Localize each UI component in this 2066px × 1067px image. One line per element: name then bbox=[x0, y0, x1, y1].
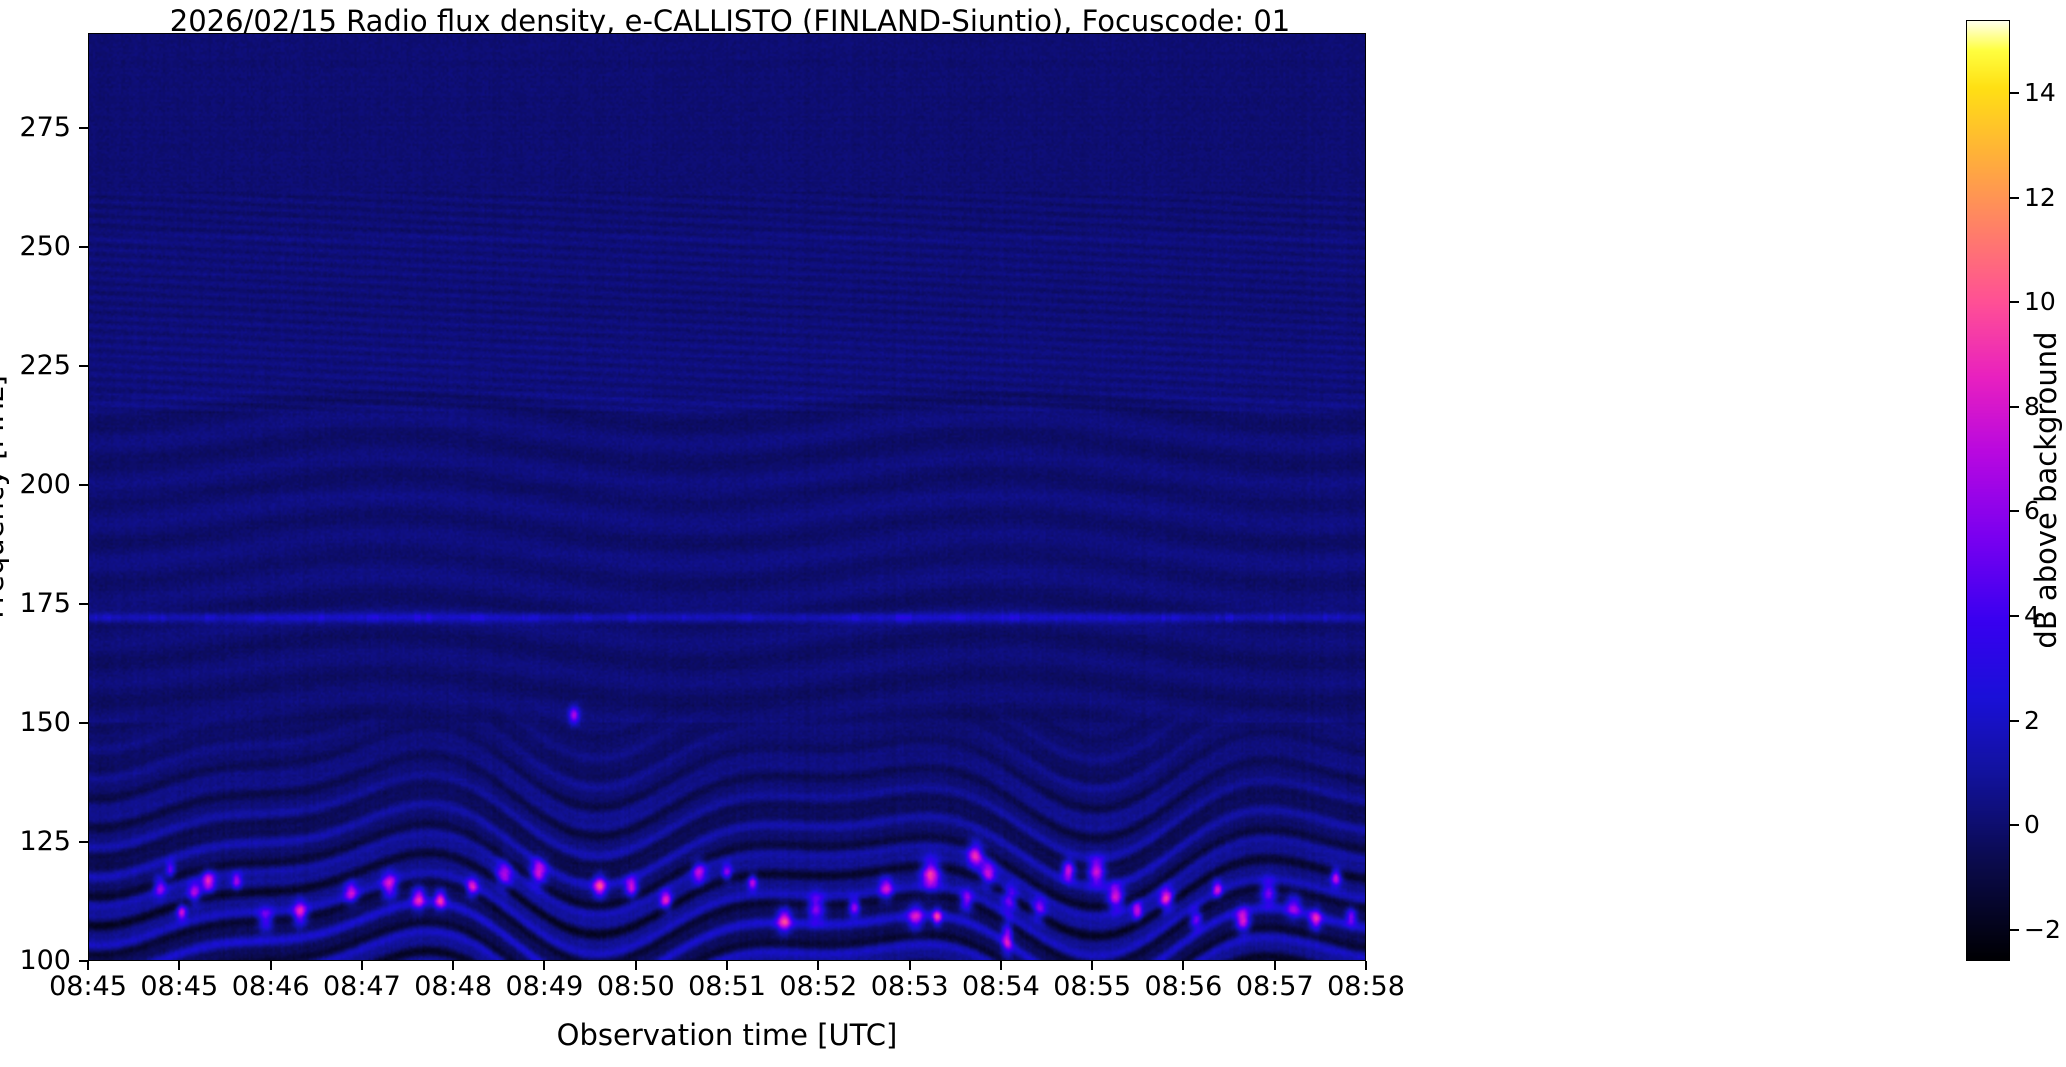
y-tick-mark bbox=[79, 484, 88, 486]
colorbar-tick-label: 2 bbox=[2024, 708, 2040, 733]
colorbar-image bbox=[1967, 21, 2009, 960]
colorbar-tick-mark bbox=[2010, 510, 2019, 512]
colorbar-tick-label: 14 bbox=[2024, 80, 2056, 105]
y-tick-label: 225 bbox=[0, 352, 71, 379]
x-tick-mark bbox=[1274, 961, 1276, 970]
y-tick-mark bbox=[79, 365, 88, 367]
y-tick-label: 100 bbox=[0, 947, 71, 974]
y-tick-label: 175 bbox=[0, 590, 71, 617]
x-tick-mark bbox=[1091, 961, 1093, 970]
colorbar-label: dB above background bbox=[2029, 331, 2063, 648]
y-tick-mark bbox=[79, 603, 88, 605]
x-tick-mark bbox=[543, 961, 545, 970]
y-tick-label: 200 bbox=[0, 471, 71, 498]
colorbar-tick-mark bbox=[2010, 720, 2019, 722]
y-tick-mark bbox=[79, 841, 88, 843]
x-tick-mark bbox=[726, 961, 728, 970]
y-tick-label: 125 bbox=[0, 828, 71, 855]
y-tick-mark bbox=[79, 246, 88, 248]
colorbar-tick-mark bbox=[2010, 929, 2019, 931]
x-tick-mark bbox=[87, 961, 89, 970]
x-tick-mark bbox=[817, 961, 819, 970]
colorbar-tick-label: 0 bbox=[2024, 812, 2040, 837]
x-tick-mark bbox=[1000, 961, 1002, 970]
spectrogram-image bbox=[89, 34, 1365, 960]
x-tick-mark bbox=[452, 961, 454, 970]
x-axis-label: Observation time [UTC] bbox=[557, 1018, 898, 1052]
x-tick-mark bbox=[909, 961, 911, 970]
colorbar-tick-mark bbox=[2010, 406, 2019, 408]
y-tick-mark bbox=[79, 722, 88, 724]
y-tick-label: 250 bbox=[0, 233, 71, 260]
y-tick-label: 150 bbox=[0, 709, 71, 736]
colorbar-tick-mark bbox=[2010, 301, 2019, 303]
figure-canvas: 2026/02/15 Radio flux density, e-CALLIST… bbox=[0, 0, 2066, 1067]
x-tick-label: 08:58 bbox=[1286, 973, 1446, 1001]
colorbar bbox=[1966, 20, 2010, 961]
colorbar-tick-mark bbox=[2010, 824, 2019, 826]
colorbar-tick-label: 12 bbox=[2024, 185, 2056, 210]
x-tick-mark bbox=[270, 961, 272, 970]
colorbar-gradient bbox=[1966, 20, 2010, 961]
x-tick-mark bbox=[1365, 961, 1367, 970]
spectrogram-axes bbox=[88, 33, 1366, 961]
colorbar-tick-mark bbox=[2010, 197, 2019, 199]
colorbar-tick-mark bbox=[2010, 615, 2019, 617]
x-tick-mark bbox=[1182, 961, 1184, 970]
colorbar-tick-label: 10 bbox=[2024, 289, 2056, 314]
y-tick-label: 275 bbox=[0, 114, 71, 141]
x-tick-mark bbox=[361, 961, 363, 970]
x-tick-mark bbox=[635, 961, 637, 970]
colorbar-tick-label: −2 bbox=[2024, 917, 2061, 942]
y-tick-mark bbox=[79, 127, 88, 129]
x-tick-mark bbox=[178, 961, 180, 970]
colorbar-tick-mark bbox=[2010, 92, 2019, 94]
